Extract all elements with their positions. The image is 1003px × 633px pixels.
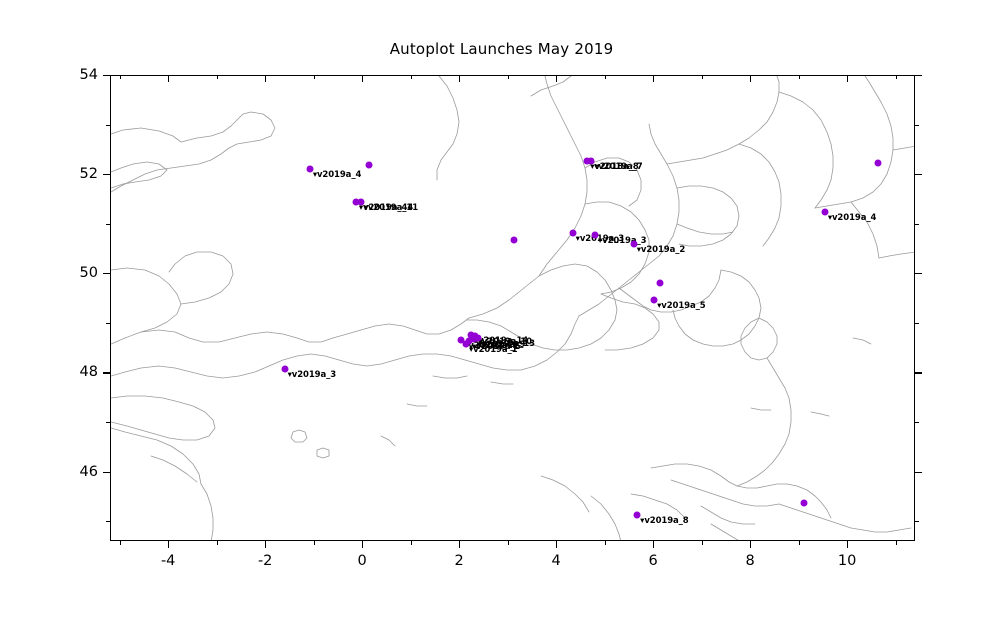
data-point[interactable] xyxy=(511,236,518,243)
y-axis-tick-label: 48 xyxy=(58,364,98,380)
x-axis-minor-tick xyxy=(605,75,606,79)
x-axis-tick-label: 6 xyxy=(649,553,658,569)
basemap-coastlines xyxy=(111,76,915,541)
x-axis-minor-tick xyxy=(508,75,509,79)
x-axis-minor-tick xyxy=(217,75,218,79)
x-axis-minor-tick xyxy=(120,541,121,545)
x-axis-tick xyxy=(556,75,557,82)
x-axis-tick xyxy=(653,75,654,82)
x-axis-minor-tick xyxy=(314,75,315,79)
x-axis-tick xyxy=(750,541,751,548)
x-axis-tick xyxy=(750,75,751,82)
x-axis-minor-tick xyxy=(896,75,897,79)
x-axis-minor-tick xyxy=(217,541,218,545)
x-axis-tick xyxy=(459,541,460,548)
x-axis-minor-tick xyxy=(411,75,412,79)
data-point[interactable] xyxy=(366,162,373,169)
y-axis-minor-tick xyxy=(106,323,110,324)
x-axis-minor-tick xyxy=(896,541,897,545)
x-axis-minor-tick xyxy=(702,541,703,545)
x-axis-minor-tick xyxy=(799,541,800,545)
x-axis-minor-tick xyxy=(120,75,121,79)
x-axis-tick-label: 10 xyxy=(838,553,856,569)
x-axis-tick xyxy=(653,541,654,548)
y-axis-tick xyxy=(915,75,922,76)
data-point[interactable] xyxy=(801,500,808,507)
y-axis-minor-tick xyxy=(915,125,919,126)
plot-area: ▾v2019a_4▾v2019a_44▾v2019a_11▾v2019a_3▾v… xyxy=(110,75,915,541)
x-axis-tick-label: 8 xyxy=(745,553,754,569)
data-point-label: ▾v2019a_11 xyxy=(364,203,418,213)
x-axis-tick-label: 2 xyxy=(455,553,464,569)
y-axis-tick-label: 50 xyxy=(58,265,98,281)
x-axis-minor-tick xyxy=(314,541,315,545)
y-axis-minor-tick xyxy=(106,422,110,423)
y-axis-tick-label: 52 xyxy=(58,166,98,182)
y-axis-minor-tick xyxy=(106,224,110,225)
x-axis-tick xyxy=(168,541,169,548)
data-point-label: ▾v2019a_5 xyxy=(657,301,705,311)
y-axis-minor-tick xyxy=(915,323,919,324)
data-point[interactable] xyxy=(657,280,664,287)
y-axis-tick xyxy=(103,273,110,274)
y-axis-minor-tick xyxy=(915,224,919,225)
data-point-label: ▾v2019a_2 xyxy=(637,245,685,255)
data-point-label: ▾v2019a_1 xyxy=(469,345,517,355)
x-axis-tick-label: -2 xyxy=(258,553,272,569)
x-axis-minor-tick xyxy=(702,75,703,79)
data-point-label: ▾v2019a_4 xyxy=(313,170,361,180)
y-axis-minor-tick xyxy=(106,521,110,522)
x-axis-minor-tick xyxy=(508,541,509,545)
y-axis-tick xyxy=(103,174,110,175)
x-axis-minor-tick xyxy=(799,75,800,79)
x-axis-tick xyxy=(847,541,848,548)
data-point-label: ▾v2019a_4 xyxy=(828,213,876,223)
y-axis-tick-label: 46 xyxy=(58,464,98,480)
y-axis-tick xyxy=(103,472,110,473)
y-axis-tick xyxy=(915,472,922,473)
x-axis-tick xyxy=(265,541,266,548)
y-axis-tick xyxy=(103,75,110,76)
x-axis-tick xyxy=(362,541,363,548)
x-axis-tick-label: -4 xyxy=(161,553,175,569)
y-axis-tick xyxy=(915,273,922,274)
x-axis-tick xyxy=(847,75,848,82)
x-axis-tick xyxy=(459,75,460,82)
y-axis-tick-label: 54 xyxy=(58,67,98,83)
page-title: Autoplot Launches May 2019 xyxy=(0,40,1003,58)
x-axis-tick xyxy=(168,75,169,82)
x-axis-minor-tick xyxy=(605,541,606,545)
figure-canvas: Autoplot Launches May 2019 xyxy=(0,0,1003,633)
y-axis-tick xyxy=(103,372,110,373)
y-axis-minor-tick xyxy=(106,125,110,126)
data-point[interactable] xyxy=(875,159,882,166)
y-axis-tick xyxy=(915,372,922,373)
data-point-label: ▾v2019a_3 xyxy=(288,370,336,380)
y-axis-minor-tick xyxy=(915,422,919,423)
data-point-label: ▾v2019a_8 xyxy=(640,516,688,526)
y-axis-tick xyxy=(915,174,922,175)
x-axis-tick-label: 0 xyxy=(358,553,367,569)
x-axis-tick xyxy=(362,75,363,82)
x-axis-minor-tick xyxy=(411,541,412,545)
x-axis-tick xyxy=(265,75,266,82)
data-point-label: ▾v2018a_8 xyxy=(590,162,638,172)
x-axis-tick-label: 4 xyxy=(552,553,561,569)
x-axis-tick xyxy=(556,541,557,548)
y-axis-minor-tick xyxy=(915,521,919,522)
